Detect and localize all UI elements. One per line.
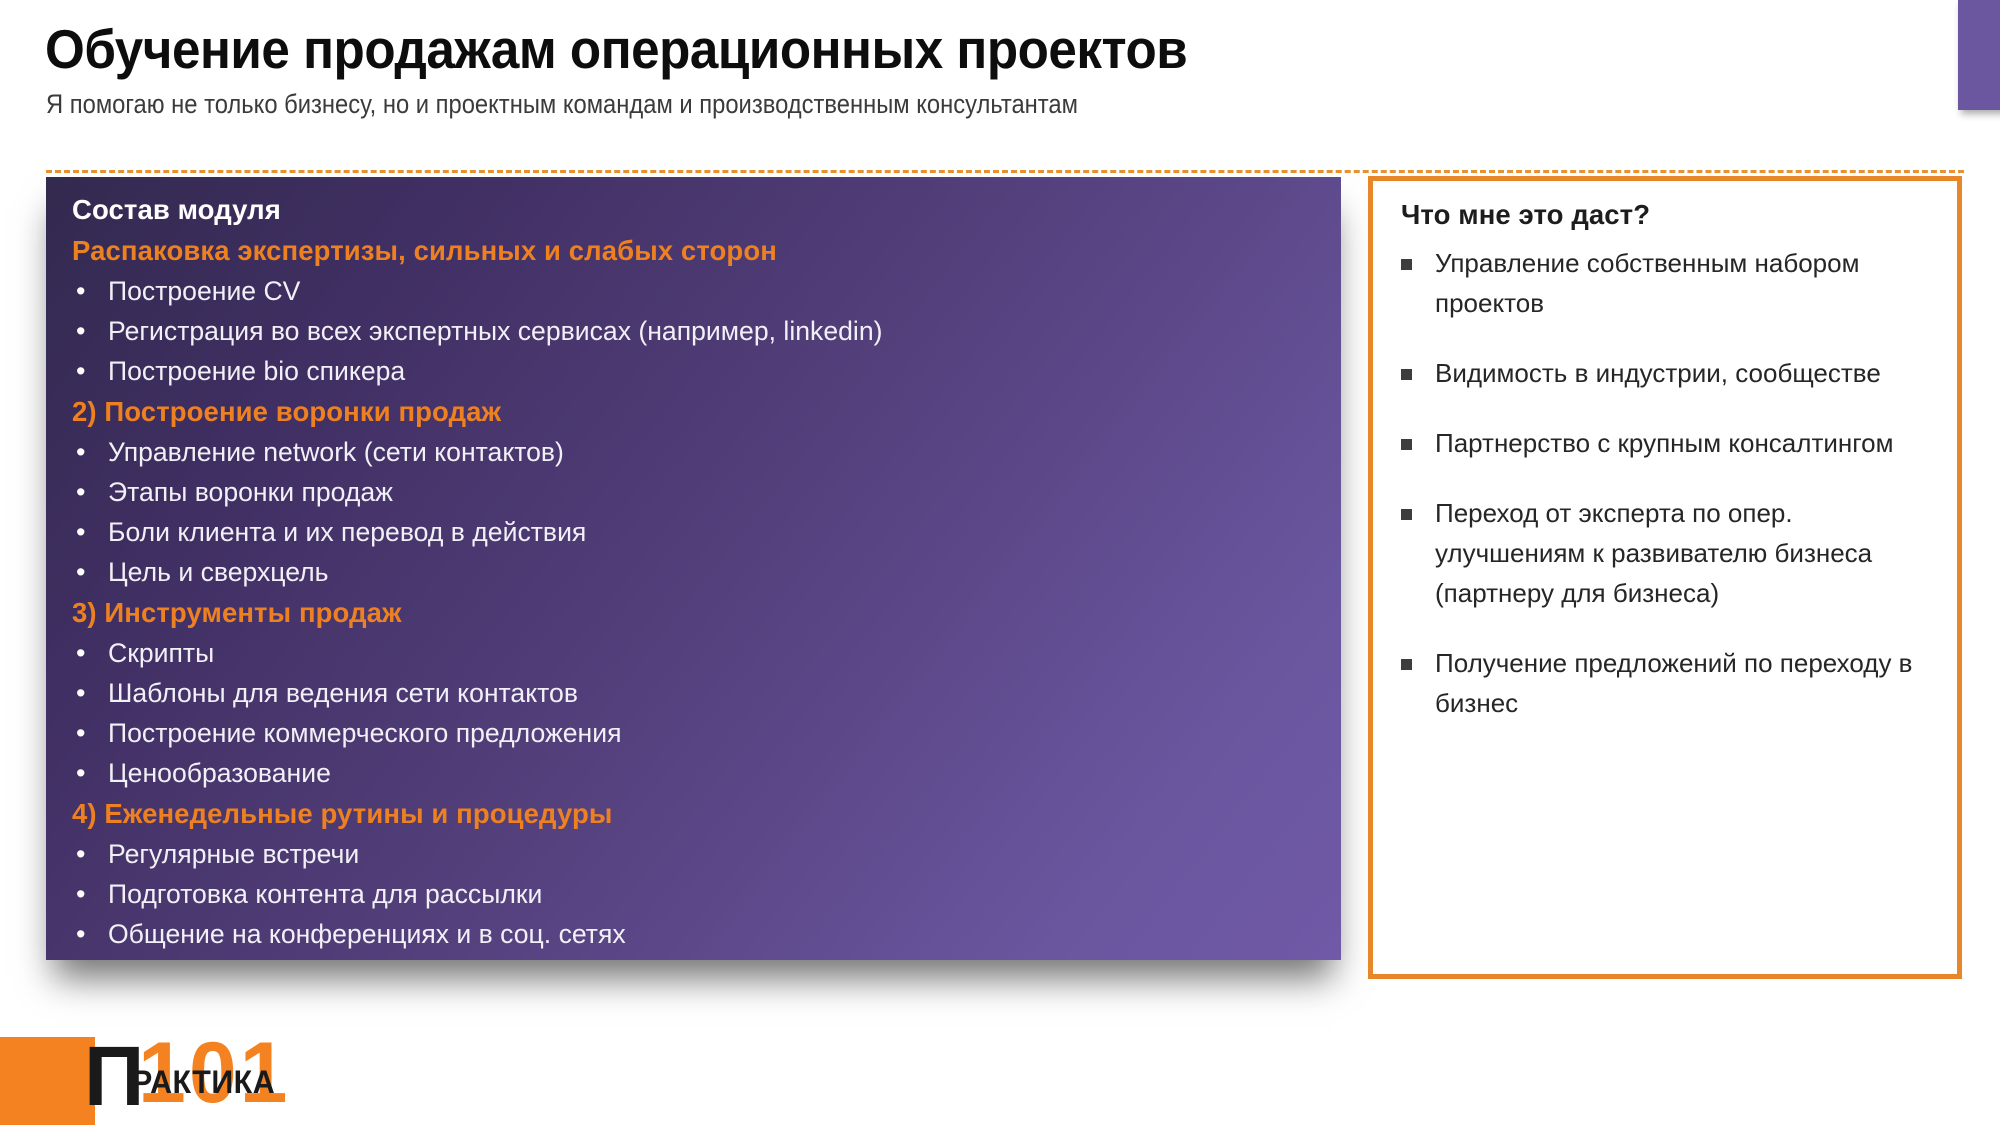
module-list-item-label: Общение на конференциях и в соц. сетях xyxy=(108,914,1305,954)
module-list-item: • Регистрация во всех экспертных сервиса… xyxy=(72,311,1323,351)
module-group-heading: 2) Построение воронки продаж xyxy=(72,391,1323,432)
bullet-dot-icon: • xyxy=(72,351,108,391)
benefits-panel-body: Что мне это даст? Управление собственным… xyxy=(1401,193,1941,753)
benefits-panel-heading: Что мне это даст? xyxy=(1401,193,1941,237)
bullet-square-icon xyxy=(1401,243,1435,270)
module-content-panel: Состав модуля Распаковка экспертизы, сил… xyxy=(46,177,1341,960)
module-list-item: • Подготовка контента для рассылки xyxy=(72,874,1323,914)
module-list-item-label: Боли клиента и их перевод в действия xyxy=(108,512,1305,552)
module-list-item-label: Скрипты xyxy=(108,633,1305,673)
module-list-item-label: Построение коммерческого предложения xyxy=(108,713,1305,753)
bullet-dot-icon: • xyxy=(72,432,108,472)
benefit-list-item-label: Управление собственным набором проектов xyxy=(1435,243,1941,323)
bullet-square-icon xyxy=(1401,353,1435,380)
module-group-heading: 3) Инструменты продаж xyxy=(72,592,1323,633)
module-list-item: • Общение на конференциях и в соц. сетях xyxy=(72,914,1323,954)
module-list-item: • Регулярные встречи xyxy=(72,834,1323,874)
module-group-heading: Распаковка экспертизы, сильных и слабых … xyxy=(72,230,1323,271)
module-list-item: • Боли клиента и их перевод в действия xyxy=(72,512,1323,552)
bullet-dot-icon: • xyxy=(72,472,108,512)
page-title: Обучение продажам операционных проектов xyxy=(45,18,1793,80)
bullet-square-icon xyxy=(1401,493,1435,520)
benefits-panel: Что мне это даст? Управление собственным… xyxy=(1368,176,1962,979)
module-content-body: Состав модуля Распаковка экспертизы, сил… xyxy=(72,189,1323,954)
module-list-item: • Скрипты xyxy=(72,633,1323,673)
module-panel-heading: Состав модуля xyxy=(72,189,1323,230)
footer-orange-square xyxy=(0,1037,95,1125)
module-list-item: • Построение CV xyxy=(72,271,1323,311)
benefit-list-item-label: Видимость в индустрии, сообществе xyxy=(1435,353,1941,393)
praktika-101-logo: 101 П РАКТИКА xyxy=(84,1022,314,1120)
bullet-dot-icon: • xyxy=(72,914,108,954)
bullet-dot-icon: • xyxy=(72,713,108,753)
module-list-item: • Построение bio спикера xyxy=(72,351,1323,391)
bullet-dot-icon: • xyxy=(72,834,108,874)
bullet-square-icon xyxy=(1401,643,1435,670)
bullet-square-icon xyxy=(1401,423,1435,450)
corner-accent-tab xyxy=(1958,0,2000,110)
benefit-list-item-label: Получение предложений по переходу в бизн… xyxy=(1435,643,1941,723)
benefit-list-item-label: Партнерство с крупным консалтингом xyxy=(1435,423,1941,463)
module-list-item-label: Подготовка контента для рассылки xyxy=(108,874,1305,914)
module-list-item: • Ценообразование xyxy=(72,753,1323,793)
benefit-list-item: Управление собственным набором проектов xyxy=(1401,243,1941,323)
benefit-list-item-label: Переход от эксперта по опер. улучшениям … xyxy=(1435,493,1941,613)
bullet-dot-icon: • xyxy=(72,311,108,351)
module-list-item-label: Построение bio спикера xyxy=(108,351,1305,391)
module-list-item: • Управление network (сети контактов) xyxy=(72,432,1323,472)
module-list-item-label: Шаблоны для ведения сети контактов xyxy=(108,673,1305,713)
benefit-list-item: Видимость в индустрии, сообществе xyxy=(1401,353,1941,393)
module-group-heading: 4) Еженедельные рутины и процедуры xyxy=(72,793,1323,834)
bullet-dot-icon: • xyxy=(72,552,108,592)
module-list-item: • Цель и сверхцель xyxy=(72,552,1323,592)
bullet-dot-icon: • xyxy=(72,512,108,552)
logo-wordmark: РАКТИКА xyxy=(132,1066,275,1098)
module-list-item-label: Этапы воронки продаж xyxy=(108,472,1305,512)
bullet-dot-icon: • xyxy=(72,753,108,793)
module-list-item-label: Управление network (сети контактов) xyxy=(108,432,1305,472)
benefits-list: Управление собственным набором проектов … xyxy=(1401,243,1941,723)
benefit-list-item: Переход от эксперта по опер. улучшениям … xyxy=(1401,493,1941,613)
bullet-dot-icon: • xyxy=(72,271,108,311)
bullet-dot-icon: • xyxy=(72,874,108,914)
module-list-item: • Построение коммерческого предложения xyxy=(72,713,1323,753)
benefit-list-item: Получение предложений по переходу в бизн… xyxy=(1401,643,1941,723)
bullet-dot-icon: • xyxy=(72,633,108,673)
module-list-item-label: Ценообразование xyxy=(108,753,1305,793)
module-list-item-label: Построение CV xyxy=(108,271,1305,311)
page-subtitle: Я помогаю не только бизнесу, но и проект… xyxy=(46,86,1700,122)
benefit-list-item: Партнерство с крупным консалтингом xyxy=(1401,423,1941,463)
module-list-item: • Шаблоны для ведения сети контактов xyxy=(72,673,1323,713)
presentation-slide: Обучение продажам операционных проектов … xyxy=(0,0,2000,1125)
dashed-divider xyxy=(46,170,1964,173)
module-list-item: • Этапы воронки продаж xyxy=(72,472,1323,512)
bullet-dot-icon: • xyxy=(72,673,108,713)
module-list-item-label: Регистрация во всех экспертных сервисах … xyxy=(108,311,1305,351)
module-list-item-label: Цель и сверхцель xyxy=(108,552,1305,592)
module-list-item-label: Регулярные встречи xyxy=(108,834,1305,874)
